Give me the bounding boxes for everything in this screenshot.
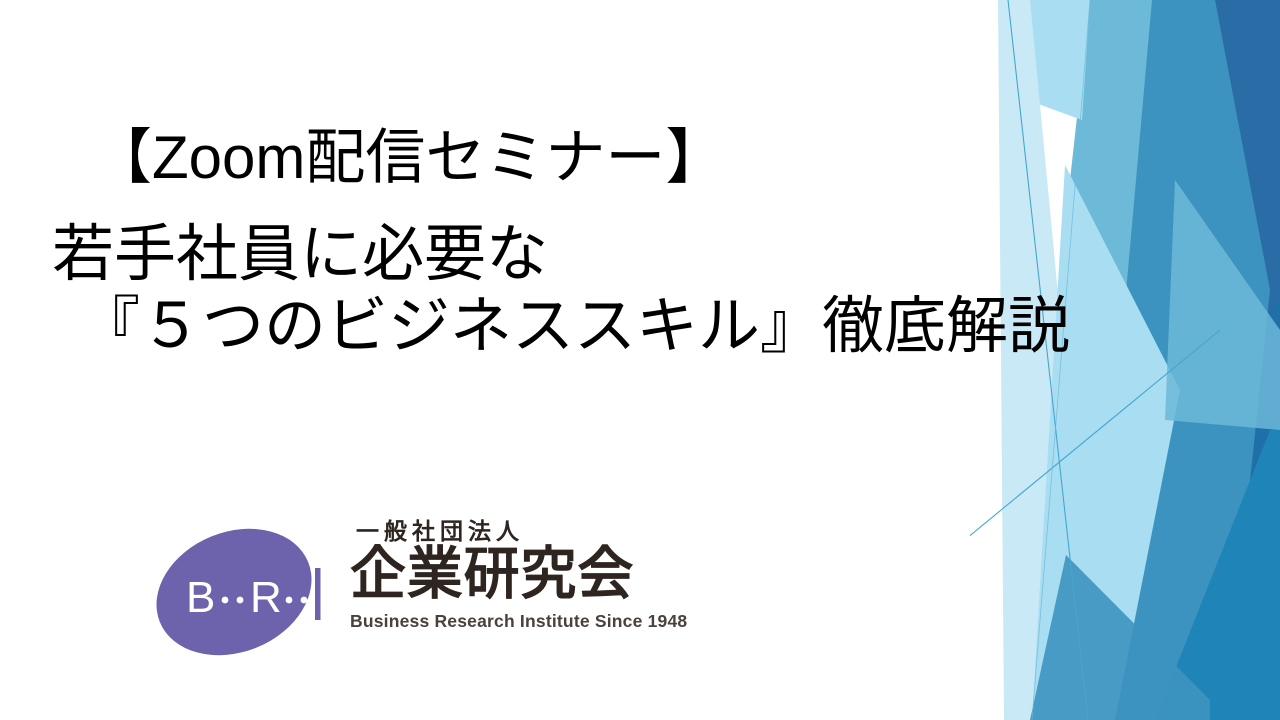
title-line-seminar-type: 【Zoom配信セミナー】 bbox=[0, 128, 1280, 188]
deco-shape-pale-upper bbox=[1000, 0, 1090, 120]
bri-ellipse-logo-icon: B R bbox=[152, 516, 342, 668]
logo-org-english: Business Research Institute Since 1948 bbox=[350, 613, 722, 631]
title-line-main: 『５つのビジネススキル』徹底解説 bbox=[0, 296, 1280, 358]
deco-shape-steel-lower-left bbox=[1030, 555, 1210, 720]
logo-text-block: 一般社団法人 企業研究会 Business Research Institute… bbox=[350, 520, 722, 630]
logo-ellipse-shape bbox=[152, 516, 331, 668]
deco-shape-mid-lower bbox=[1155, 430, 1280, 720]
logo-org-name: 企業研究会 bbox=[350, 543, 715, 607]
deco-shape-steel bbox=[1088, 0, 1270, 720]
slide-title-block: 【Zoom配信セミナー】 若手社員に必要な 『５つのビジネススキル』徹底解説 bbox=[0, 128, 1280, 358]
organization-logo: B R 一般社団法人 企業研究会 Business Research Insti… bbox=[152, 516, 722, 676]
title-line-subject: 若手社員に必要な bbox=[0, 224, 1280, 286]
svg-text:B: B bbox=[186, 573, 215, 622]
logo-org-type: 一般社団法人 bbox=[350, 520, 722, 543]
deco-shape-deep-lower bbox=[1120, 300, 1280, 720]
deco-shape-dark-right bbox=[1090, 0, 1280, 720]
title-slide: 【Zoom配信セミナー】 若手社員に必要な 『５つのビジネススキル』徹底解説 B… bbox=[0, 0, 1280, 720]
logo-letter-i bbox=[315, 568, 321, 620]
deco-hairline-2 bbox=[970, 330, 1220, 700]
svg-text:R: R bbox=[250, 573, 282, 622]
